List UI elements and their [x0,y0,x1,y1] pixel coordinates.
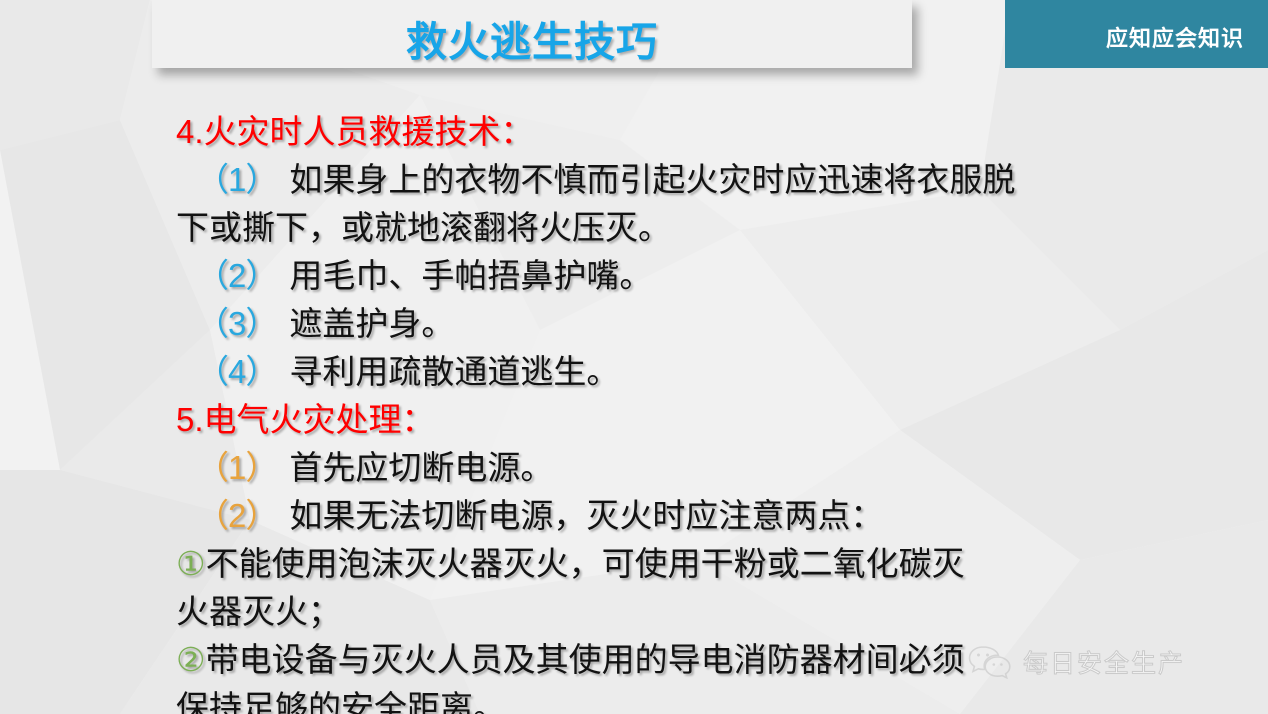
circled-number-icon: ② [176,641,206,678]
section-4-heading: 4.火灾时人员救援技术： [0,108,1268,156]
section-4-item-3: （3）遮盖护身。 [0,300,1268,348]
item-marker: （1） [196,449,277,486]
corner-badge: 应知应会知识 [1005,0,1268,68]
watermark-label: 每日安全生产 [1023,644,1185,680]
subitem-text: 带电设备与灭火人员及其使用的导电消防器材间必须 [206,641,965,678]
item-marker: （3） [196,305,277,342]
circled-number-icon: ① [176,545,206,582]
section-4-item-1-line-1: （1）如果身上的衣物不慎而引起火灾时应迅速将衣服脱 [0,156,1268,204]
item-text: 寻利用疏散通道逃生。 [289,353,619,390]
item-text: 首先应切断电源。 [289,449,553,486]
section-5-item-2: （2）如果无法切断电源，灭火时应注意两点： [0,492,1268,540]
item-marker: （2） [196,257,277,294]
item-text: 用毛巾、手帕捂鼻护嘴。 [289,257,652,294]
corner-badge-label: 应知应会知识 [1106,21,1244,53]
wechat-icon [968,645,1014,679]
watermark: 每日安全生产 [968,644,1185,680]
item-marker: （1） [196,161,277,198]
section-5-heading: 5.电气火灾处理： [0,396,1268,444]
slide-title-bar: 救火逃生技巧 [152,0,912,68]
section-4-item-1-line-2: 下或撕下，或就地滚翻将火压灭。 [0,204,1268,252]
item-marker: （2） [196,497,277,534]
item-text: 如果无法切断电源，灭火时应注意两点： [289,497,883,534]
section-5-subitem-1-line-1: ①不能使用泡沫灭火器灭火，可使用干粉或二氧化碳灭 [0,540,1268,588]
section-4-item-2: （2）用毛巾、手帕捂鼻护嘴。 [0,252,1268,300]
page-title: 救火逃生技巧 [152,8,912,68]
section-5-item-1: （1）首先应切断电源。 [0,444,1268,492]
section-4-item-4: （4）寻利用疏散通道逃生。 [0,348,1268,396]
slide-body: 4.火灾时人员救援技术： （1）如果身上的衣物不慎而引起火灾时应迅速将衣服脱 下… [0,108,1268,714]
item-text: 如果身上的衣物不慎而引起火灾时应迅速将衣服脱 [289,161,1015,198]
section-5-subitem-2-line-2: 保持足够的安全距离。 [0,684,1268,714]
presentation-slide: 救火逃生技巧 应知应会知识 4.火灾时人员救援技术： （1）如果身上的衣物不慎而… [0,0,1268,714]
item-marker: （4） [196,353,277,390]
item-text: 遮盖护身。 [289,305,454,342]
section-5-subitem-1-line-2: 火器灭火； [0,588,1268,636]
subitem-text: 不能使用泡沫灭火器灭火，可使用干粉或二氧化碳灭 [206,545,965,582]
